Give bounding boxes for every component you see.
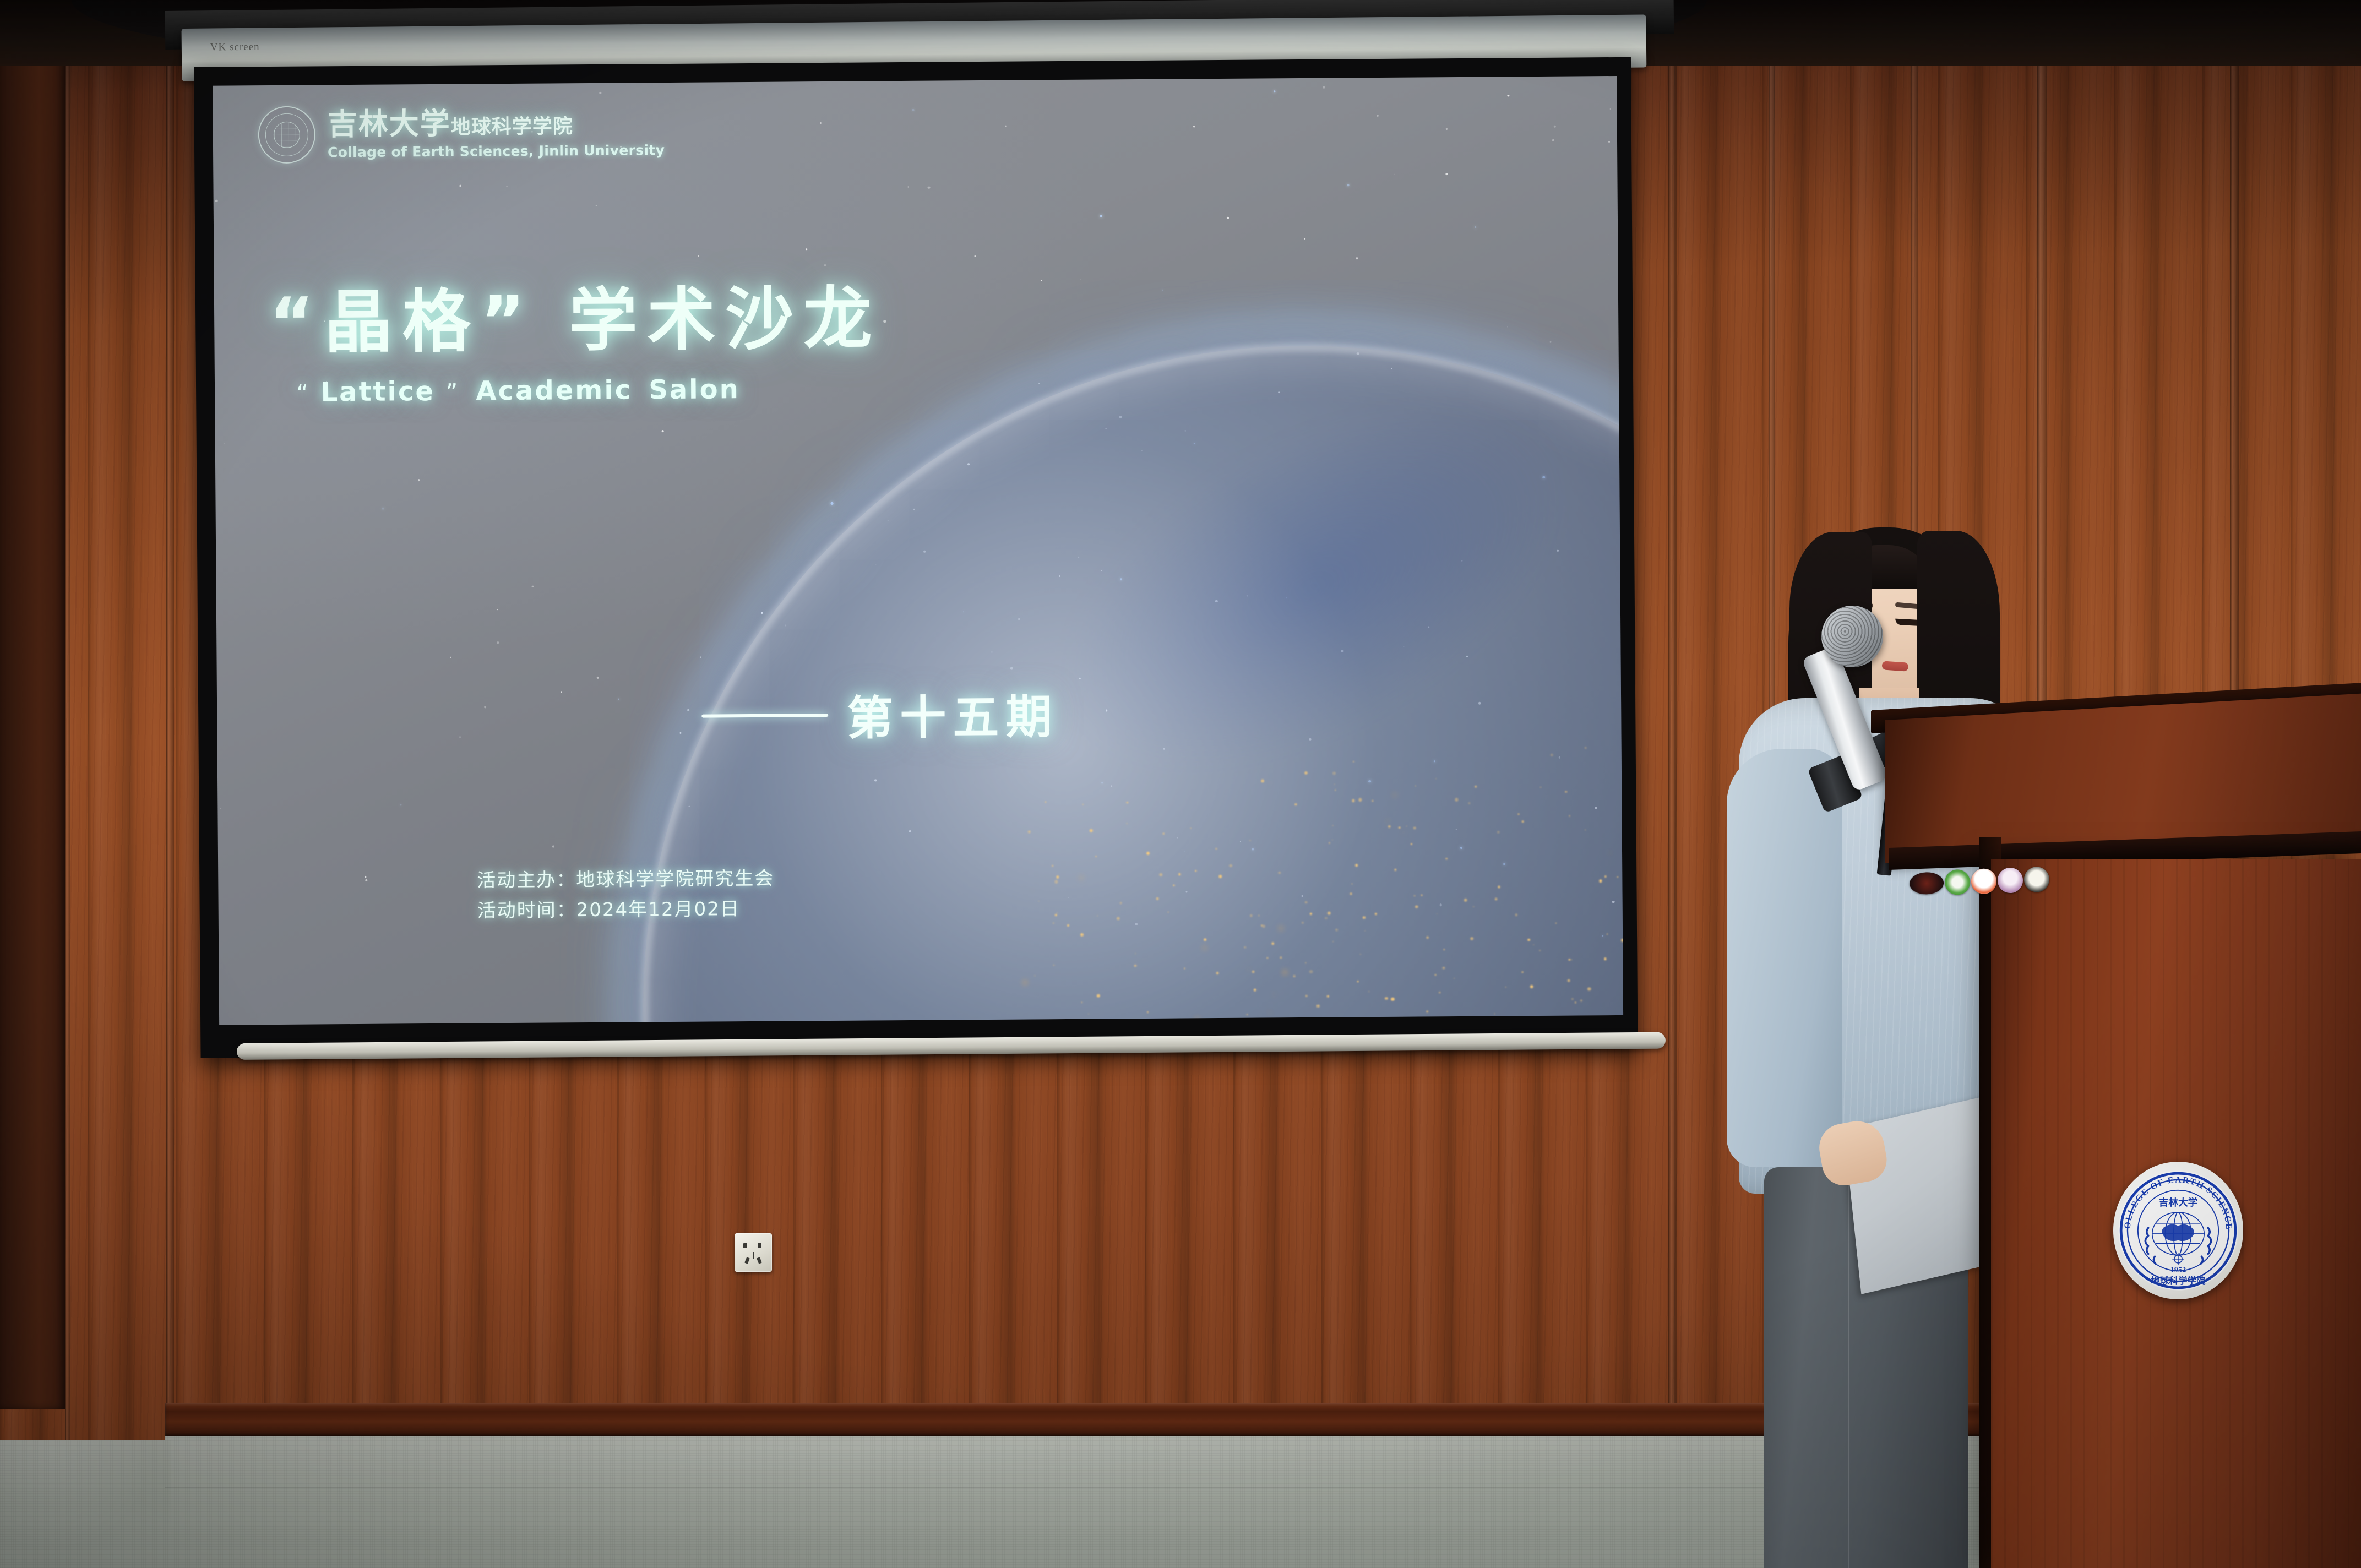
city-light xyxy=(1159,873,1162,876)
cardigan-sleeve-left xyxy=(1727,749,1842,1167)
city-light xyxy=(1518,813,1520,815)
city-light xyxy=(1270,783,1271,784)
city-light xyxy=(1067,924,1069,927)
star xyxy=(552,846,554,848)
city-light xyxy=(1505,986,1506,987)
city-light xyxy=(1146,852,1150,855)
city-light xyxy=(1126,823,1128,824)
city-light xyxy=(1081,1002,1082,1003)
star xyxy=(365,879,367,881)
star xyxy=(596,205,597,206)
logo-chinese-title: 吉林大学地球科学学院 xyxy=(328,107,665,140)
city-light xyxy=(1116,917,1119,920)
city-light xyxy=(1196,1017,1198,1020)
city-light xyxy=(1386,820,1388,822)
city-light xyxy=(1328,912,1331,915)
city-light xyxy=(1413,895,1415,896)
city-light xyxy=(1167,912,1168,913)
city-light xyxy=(1497,831,1500,834)
star xyxy=(1323,86,1325,89)
city-light xyxy=(1190,827,1191,829)
city-light xyxy=(1249,840,1251,841)
star xyxy=(1608,141,1610,143)
city-light xyxy=(1054,914,1057,916)
star xyxy=(698,255,699,257)
slide-title-english: “ Lattice ”AcademicSalon xyxy=(296,373,883,407)
city-light xyxy=(1351,884,1352,885)
city-light xyxy=(1574,1001,1576,1003)
city-light xyxy=(1332,825,1334,826)
city-light xyxy=(1162,832,1164,834)
star xyxy=(484,706,486,708)
city-light xyxy=(1434,974,1436,976)
wall-vertical-seam-7 xyxy=(2230,0,2239,727)
city-light xyxy=(1280,956,1282,959)
svg-text:1952: 1952 xyxy=(2170,1266,2186,1275)
star xyxy=(975,255,976,257)
star xyxy=(1377,115,1379,117)
lecture-hall-scene: VK screen 吉林大学地球科学学院 Collage of Earth Sc… xyxy=(0,0,2361,1568)
city-light xyxy=(1571,959,1572,960)
city-light xyxy=(1280,927,1282,930)
city-light xyxy=(1533,944,1534,945)
city-light xyxy=(1335,928,1338,931)
star xyxy=(820,122,822,124)
city-light xyxy=(1024,981,1027,984)
city-light xyxy=(1283,971,1286,974)
city-light xyxy=(1569,815,1570,817)
city-light xyxy=(1134,965,1137,967)
city-light xyxy=(1565,791,1567,792)
university-crest-icon xyxy=(258,106,315,164)
city-light xyxy=(1080,933,1084,937)
star xyxy=(1608,254,1609,254)
city-light xyxy=(1585,829,1586,830)
city-light xyxy=(1393,793,1396,797)
city-light xyxy=(1495,898,1498,901)
star xyxy=(600,92,602,94)
city-light xyxy=(1097,994,1100,998)
city-light xyxy=(1184,968,1185,969)
star xyxy=(618,698,620,700)
star xyxy=(1609,108,1611,110)
star xyxy=(1347,184,1349,186)
city-light xyxy=(1395,869,1397,871)
wall-vertical-seam-3 xyxy=(1668,0,1677,1431)
green-cert-sticker xyxy=(1944,869,1971,896)
city-light xyxy=(1090,829,1093,832)
city-light xyxy=(1494,1013,1495,1014)
city-light xyxy=(1443,949,1445,951)
city-lights xyxy=(1015,673,1623,1025)
city-light xyxy=(1178,873,1181,876)
city-light xyxy=(1088,1013,1089,1014)
star xyxy=(928,186,930,188)
pink-cert-sticker xyxy=(1997,867,2023,894)
city-light xyxy=(1585,747,1587,749)
city-light xyxy=(1372,800,1374,802)
city-light xyxy=(1527,939,1530,941)
star xyxy=(597,677,599,679)
city-light xyxy=(1305,962,1306,963)
city-light xyxy=(1173,885,1174,886)
episode-rule-line xyxy=(701,713,828,717)
city-light xyxy=(1156,897,1158,900)
city-light xyxy=(1522,971,1524,973)
city-light xyxy=(1247,1014,1248,1015)
city-light xyxy=(1571,998,1574,1000)
city-light xyxy=(1127,802,1129,804)
city-light xyxy=(1038,901,1040,902)
star xyxy=(459,185,461,187)
star xyxy=(907,186,909,188)
city-light xyxy=(1080,876,1083,879)
city-light xyxy=(1454,978,1455,979)
grey-cert-sticker xyxy=(2023,867,2050,893)
city-light xyxy=(1464,899,1467,902)
city-light xyxy=(1262,925,1265,928)
star xyxy=(224,443,224,444)
city-light xyxy=(1364,930,1366,932)
city-light xyxy=(1540,787,1541,788)
city-light xyxy=(1253,989,1256,992)
star xyxy=(1550,341,1552,343)
city-light xyxy=(1120,902,1122,904)
city-light xyxy=(1426,937,1429,939)
star xyxy=(497,641,499,644)
star xyxy=(561,691,562,693)
city-light xyxy=(1312,919,1313,920)
wsc-cert-sticker xyxy=(1971,868,1997,895)
city-light xyxy=(1421,894,1423,896)
city-light xyxy=(1555,922,1557,924)
city-light xyxy=(1621,939,1623,941)
city-light xyxy=(1587,987,1591,990)
city-light xyxy=(1095,856,1097,858)
city-light xyxy=(1439,992,1441,994)
star xyxy=(1507,326,1508,327)
star xyxy=(1445,128,1448,130)
star xyxy=(1274,91,1275,92)
star xyxy=(460,737,460,737)
star xyxy=(1193,126,1195,128)
star xyxy=(220,808,220,808)
city-light xyxy=(1521,820,1524,823)
city-light xyxy=(1215,848,1217,850)
city-light xyxy=(1350,892,1352,895)
city-light xyxy=(1599,880,1602,883)
star xyxy=(1041,280,1042,281)
city-light xyxy=(1295,803,1297,805)
city-light xyxy=(1332,941,1334,942)
city-light xyxy=(1357,981,1358,982)
city-light xyxy=(1609,852,1611,853)
star xyxy=(1394,174,1394,175)
city-light xyxy=(1363,916,1366,919)
city-light xyxy=(1406,826,1407,827)
city-light xyxy=(1470,937,1473,940)
star xyxy=(1552,139,1554,141)
city-light xyxy=(1216,972,1219,974)
city-light xyxy=(1580,1000,1582,1002)
city-light xyxy=(1325,917,1328,919)
star xyxy=(541,781,541,782)
city-light xyxy=(1316,1004,1319,1007)
city-light xyxy=(1279,872,1281,874)
star xyxy=(884,320,886,323)
city-light xyxy=(1331,840,1332,841)
city-light xyxy=(1305,901,1308,903)
city-light xyxy=(1607,933,1608,934)
city-light xyxy=(1413,827,1416,830)
star xyxy=(912,109,915,111)
city-light xyxy=(1332,772,1335,775)
city-light xyxy=(1617,876,1618,878)
city-light xyxy=(1310,913,1312,915)
city-light xyxy=(1435,778,1437,779)
city-light xyxy=(1054,880,1058,884)
star xyxy=(382,507,384,509)
star xyxy=(1304,238,1305,240)
screen-brand-label: VK screen xyxy=(210,41,260,54)
city-light xyxy=(1391,998,1394,1001)
star xyxy=(1356,257,1358,259)
star xyxy=(365,876,367,878)
wall-power-outlet[interactable] xyxy=(735,1233,772,1272)
city-light xyxy=(1475,786,1477,788)
city-light xyxy=(1204,947,1206,949)
emblem-graphic: COLLEGE OF EARTH SCIENCES 吉林大学 1952 地球 xyxy=(2113,1162,2243,1299)
svg-text:地球科学学院: 地球科学学院 xyxy=(2151,1275,2206,1286)
city-light xyxy=(1273,993,1275,995)
logo-english-title: Collage of Earth Sciences, Jinlin Univer… xyxy=(328,143,665,160)
city-light xyxy=(1375,913,1378,916)
city-light xyxy=(1539,950,1541,951)
city-light xyxy=(1360,954,1362,955)
city-light xyxy=(1266,957,1268,959)
star xyxy=(806,248,807,250)
city-light xyxy=(1329,842,1330,843)
presentation-slide: 吉林大学地球科学学院 Collage of Earth Sciences, Ji… xyxy=(213,76,1623,1025)
city-light xyxy=(1052,865,1053,867)
city-light xyxy=(1399,827,1401,829)
city-light xyxy=(1468,802,1471,804)
slide-info-date: 活动时间：2024年12月02日 xyxy=(477,894,775,927)
city-light xyxy=(1244,946,1247,949)
city-light xyxy=(1355,864,1358,867)
slide-info-block: 活动主办：地球科学学院研究生会 活动时间：2024年12月02日 xyxy=(477,864,775,927)
city-light xyxy=(1261,779,1264,782)
city-light xyxy=(1498,886,1500,888)
city-light xyxy=(1053,922,1054,923)
star xyxy=(1005,126,1007,127)
podium-certification-stickers xyxy=(1909,867,2049,897)
city-light xyxy=(1302,922,1304,924)
city-light xyxy=(1135,953,1136,954)
city-light xyxy=(1258,914,1259,916)
star xyxy=(418,480,420,481)
city-light xyxy=(1352,799,1354,802)
star xyxy=(1100,215,1102,217)
city-light xyxy=(1443,967,1445,969)
city-light xyxy=(1455,798,1458,801)
city-light xyxy=(1437,913,1438,914)
city-light xyxy=(1385,997,1388,1000)
city-light xyxy=(1426,1010,1429,1013)
wall-vertical-seam-5 xyxy=(1911,0,1918,551)
slide-episode-label: 第十五期 xyxy=(847,680,1059,748)
city-light xyxy=(1368,991,1370,993)
city-light xyxy=(1358,798,1362,801)
city-light xyxy=(1388,825,1390,828)
star xyxy=(497,609,498,611)
star xyxy=(532,586,534,587)
oval-dark-sticker xyxy=(1909,872,1944,895)
city-light xyxy=(1402,1016,1403,1017)
city-light xyxy=(1415,785,1416,786)
slide-episode-block: 第十五期 xyxy=(701,680,1059,749)
projection-screen: 吉林大学地球科学学院 Collage of Earth Sciences, Ji… xyxy=(194,57,1638,1058)
city-light xyxy=(1515,914,1517,916)
star xyxy=(662,431,664,433)
city-light xyxy=(1530,985,1533,988)
star xyxy=(215,200,217,202)
city-light xyxy=(1605,876,1607,878)
slide-university-logo: 吉林大学地球科学学院 Collage of Earth Sciences, Ji… xyxy=(258,104,665,164)
star xyxy=(507,186,508,187)
city-light xyxy=(1309,970,1313,973)
star xyxy=(400,804,402,806)
city-light xyxy=(1252,971,1254,973)
wall-vertical-seam-2 xyxy=(166,0,174,1568)
city-light xyxy=(1415,905,1418,908)
wall-left-dark-column xyxy=(0,0,65,1409)
city-light xyxy=(1446,858,1448,859)
star xyxy=(1445,173,1448,175)
star xyxy=(1227,217,1228,219)
city-light xyxy=(1053,965,1054,966)
city-light xyxy=(1248,968,1250,970)
city-light xyxy=(1293,975,1295,977)
star xyxy=(1553,125,1555,127)
city-light xyxy=(1032,889,1033,890)
city-light xyxy=(1249,914,1252,917)
star xyxy=(1475,226,1477,228)
city-light xyxy=(1035,976,1036,977)
city-light xyxy=(1334,784,1335,785)
city-light xyxy=(1568,979,1570,982)
city-light xyxy=(1056,912,1057,913)
city-light xyxy=(1335,790,1336,791)
logo-text-block: 吉林大学地球科学学院 Collage of Earth Sciences, Ji… xyxy=(328,107,665,160)
star xyxy=(700,656,701,657)
city-light xyxy=(1204,938,1206,941)
city-light xyxy=(1027,831,1030,834)
city-light xyxy=(1271,942,1274,945)
star xyxy=(1080,280,1081,280)
city-light xyxy=(1218,875,1222,878)
city-light xyxy=(1403,832,1405,834)
star xyxy=(1508,95,1509,96)
lips xyxy=(1882,661,1909,671)
city-light xyxy=(1569,959,1570,960)
slide-title-chinese: “晶格” 学术沙龙 xyxy=(269,263,882,366)
city-light xyxy=(1305,995,1308,997)
city-light xyxy=(1045,801,1046,803)
city-light xyxy=(1411,843,1412,845)
city-light xyxy=(1195,870,1196,872)
city-light xyxy=(1551,754,1553,756)
city-light xyxy=(1353,761,1354,762)
city-light xyxy=(1229,864,1232,867)
city-light xyxy=(1473,906,1474,907)
floor-left-step xyxy=(0,1440,171,1568)
city-light xyxy=(1147,1011,1149,1013)
svg-text:吉林大学: 吉林大学 xyxy=(2159,1196,2198,1208)
slide-info-organizer: 活动主办：地球科学学院研究生会 xyxy=(477,864,774,896)
wall-vertical-seam-1 xyxy=(65,0,70,1568)
city-light xyxy=(1097,916,1098,917)
city-light xyxy=(1304,771,1308,775)
star xyxy=(450,657,451,658)
slide-title-block: “晶格” 学术沙龙 “ Lattice ”AcademicSalon xyxy=(269,263,883,408)
city-light xyxy=(1269,1012,1271,1014)
podium-college-emblem: COLLEGE OF EARTH SCIENCES 吉林大学 1952 地球 xyxy=(2113,1162,2243,1299)
city-light xyxy=(1056,875,1059,878)
city-light xyxy=(1326,995,1329,997)
city-light xyxy=(1082,804,1084,805)
city-light xyxy=(1604,957,1607,960)
star xyxy=(1162,290,1163,291)
